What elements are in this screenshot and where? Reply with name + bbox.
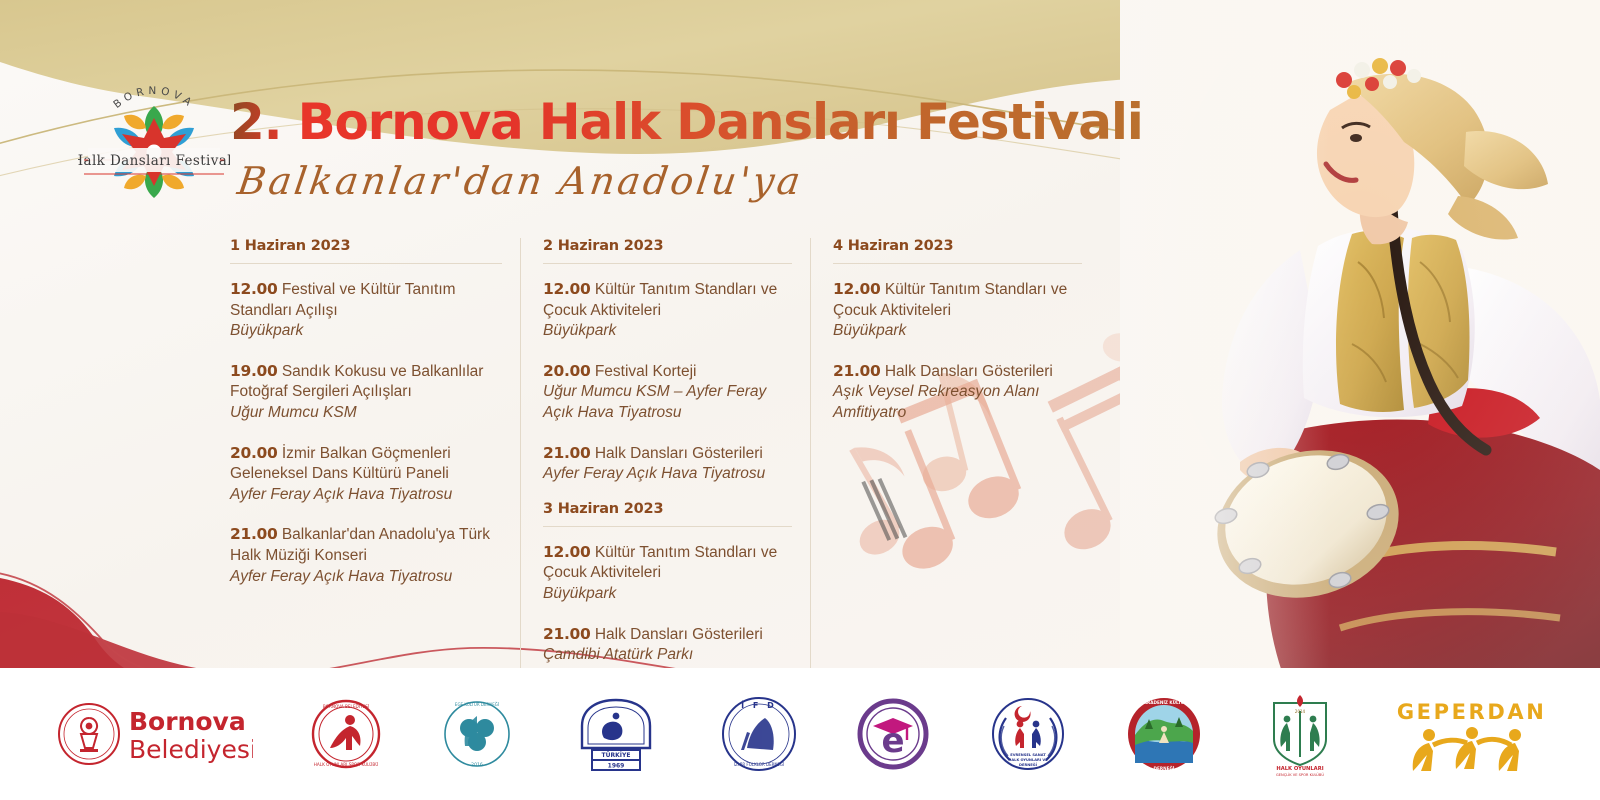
sponsor-logo-bornova-halk-oyunlari: BORNOVA BELEDİYESİ HALK OYUNLARI SPOR KU… xyxy=(308,688,384,780)
seal-mark: İ F D xyxy=(741,700,777,710)
event-venue: Büyükpark xyxy=(543,584,792,605)
event-time: 19.00 xyxy=(230,362,278,380)
seal-label-1: EVRENSEL SANAT xyxy=(1010,753,1046,757)
event-item: 21.00 Balkanlar'dan Anadolu'ya Türk Halk… xyxy=(230,524,502,587)
day-group: 2 Haziran 2023 12.00 Kültür Tanıtım Stan… xyxy=(543,238,792,485)
schedule-column-2: 2 Haziran 2023 12.00 Kültür Tanıtım Stan… xyxy=(520,238,810,682)
event-schedule: 1 Haziran 2023 12.00 Festival ve Kültür … xyxy=(230,238,1110,682)
event-venue: Aşık Veysel Rekreasyon Alanı Amfitiyatro xyxy=(833,382,1082,423)
sponsor-logo-ege-kultur-dernegi: EGE KÜLTÜR DERNEĞİ 2016 xyxy=(439,688,515,780)
seal-ring-bottom: İZMİR FOLKLOR DERNEĞİ xyxy=(733,762,783,767)
event-item: 12.00 Kültür Tanıtım Standları ve Çocuk … xyxy=(543,279,792,342)
sponsor-logo-strip: Bornova Belediyesi BORNOVA BELEDİYESİ HA… xyxy=(0,668,1600,800)
event-item: 12.00 Kültür Tanıtım Standları ve Çocuk … xyxy=(833,279,1082,342)
schedule-column-3: 4 Haziran 2023 12.00 Kültür Tanıtım Stan… xyxy=(810,238,1100,682)
day-header: 3 Haziran 2023 xyxy=(543,501,792,527)
ifd-seal-icon: İ F D İZMİR FOLKLOR DERNEĞİ xyxy=(717,692,801,776)
event-venue: Büyükpark xyxy=(833,321,1082,342)
festival-logo-mark: BORNOVA xyxy=(78,86,230,206)
day-group: 3 Haziran 2023 12.00 Kültür Tanıtım Stan… xyxy=(543,501,792,666)
sponsor-logo-izmir-turizm-folklor: TÜRKİYE 1969 xyxy=(570,688,662,780)
day-group: 1 Haziran 2023 12.00 Festival ve Kültür … xyxy=(230,238,502,587)
event-venue: Çamdibi Atatürk Parkı xyxy=(543,645,792,666)
event-venue: Ayfer Feray Açık Hava Tiyatrosu xyxy=(230,485,502,506)
ganos-crest-icon: 2014 HALK OYUNLARI GENÇLİK VE SPOR KULÜB… xyxy=(1258,691,1342,777)
crescent-icon xyxy=(1015,706,1031,722)
festival-logo: BORNOVA xyxy=(78,86,230,206)
egeperdans-logo: EGEPERDANS xyxy=(1397,693,1547,775)
event-venue: Büyükpark xyxy=(543,321,792,342)
title-block: 2. Bornova Halk Dansları Festivali Balka… xyxy=(230,96,1143,203)
page-subtitle: Balkanlar'dan Anadolu'ya xyxy=(235,159,1146,203)
seal-mark: e xyxy=(882,721,905,761)
crest-label-2: GENÇLİK VE SPOR KULÜBÜ xyxy=(1276,772,1324,777)
sponsor-logo-ifd: İ F D İZMİR FOLKLOR DERNEĞİ xyxy=(717,688,801,780)
seal-ring-top: BORNOVA BELEDİYESİ xyxy=(323,704,369,709)
event-item: 20.00 Festival Korteji Uğur Mumcu KSM – … xyxy=(543,361,792,424)
evrensel-sanat-seal-icon: EVRENSEL SANAT HALK OYUNLARI VE DERNEĞİ xyxy=(986,692,1070,776)
day-header: 2 Haziran 2023 xyxy=(543,238,792,264)
sponsor-logo-bornova-belediyesi: Bornova Belediyesi xyxy=(53,688,253,780)
seal-label-2: HALK OYUNLARI VE xyxy=(1009,758,1049,762)
event-venue: Ayfer Feray Açık Hava Tiyatrosu xyxy=(230,567,502,588)
event-venue: Uğur Mumcu KSM xyxy=(230,403,502,424)
sponsor-name-line1: Bornova xyxy=(129,707,246,736)
event-time: 12.00 xyxy=(543,280,591,298)
sponsor-logo-egeperdans: EGEPERDANS xyxy=(1397,688,1547,780)
event-venue: Ayfer Feray Açık Hava Tiyatrosu xyxy=(543,464,792,485)
day-header: 4 Haziran 2023 xyxy=(833,238,1082,264)
crest-label-1: HALK OYUNLARI xyxy=(1276,766,1323,772)
seal-ring-bottom: HALK OYUNLARI SPOR KULÜBÜ xyxy=(314,762,379,767)
event-item: 21.00 Halk Dansları Gösterileri Ayfer Fe… xyxy=(543,443,792,485)
logo-band-text: Halk Dansları Festivali xyxy=(78,153,230,169)
seal-label-country: TÜRKİYE xyxy=(601,752,630,759)
sponsor-logo-ganos-halk-oyunlari: 2014 HALK OYUNLARI GENÇLİK VE SPOR KULÜB… xyxy=(1258,688,1342,780)
seal-label-year: 1969 xyxy=(607,763,624,770)
sponsor-name: EGEPERDANS xyxy=(1397,700,1547,724)
sponsor-logo-evrensel-sanat: EVRENSEL SANAT HALK OYUNLARI VE DERNEĞİ xyxy=(986,688,1070,780)
event-venue: Uğur Mumcu KSM – Ayfer Feray Açık Hava T… xyxy=(543,382,792,423)
event-item: 20.00 İzmir Balkan Göçmenleri Geleneksel… xyxy=(230,443,502,506)
event-name: Halk Dansları Gösterileri xyxy=(595,445,763,462)
event-name: Halk Dansları Gösterileri xyxy=(595,626,763,643)
event-name: Halk Dansları Gösterileri xyxy=(885,363,1053,380)
event-time: 20.00 xyxy=(230,444,278,462)
seal-year: 2016 xyxy=(471,762,483,768)
event-item: 12.00 Festival ve Kültür Tanıtım Standla… xyxy=(230,279,502,342)
seal-ring-bottom: DERNEĞİ xyxy=(1154,766,1175,771)
dancers-icon xyxy=(1412,727,1520,771)
event-time: 20.00 xyxy=(543,362,591,380)
sponsor-logo-universite: e xyxy=(855,688,931,780)
bornova-seal-icon xyxy=(59,704,119,764)
event-time: 21.00 xyxy=(833,362,881,380)
izmir-turizm-folklor-icon: TÜRKİYE 1969 xyxy=(570,694,662,774)
event-item: 21.00 Halk Dansları Gösterileri Çamdibi … xyxy=(543,624,792,666)
sponsor-name-line2: Belediyesi xyxy=(129,735,253,764)
festival-poster: BORNOVA xyxy=(0,0,1600,800)
event-time: 12.00 xyxy=(543,543,591,561)
event-item: 12.00 Kültür Tanıtım Standları ve Çocuk … xyxy=(543,542,792,605)
event-venue: Büyükpark xyxy=(230,321,502,342)
seal-ring-top: KARADENİZ KÜLTÜR xyxy=(1141,700,1189,705)
event-item: 21.00 Halk Dansları Gösterileri Aşık Vey… xyxy=(833,361,1082,424)
sponsor-logo-karadeniz-kultur: KARADENİZ KÜLTÜR DERNEĞİ xyxy=(1125,688,1203,780)
halk-oyunlari-seal-icon: BORNOVA BELEDİYESİ HALK OYUNLARI SPOR KU… xyxy=(308,696,384,772)
event-item: 19.00 Sandık Kokusu ve Balkanlılar Fotoğ… xyxy=(230,361,502,424)
bornova-belediyesi-logo: Bornova Belediyesi xyxy=(53,696,253,772)
page-title: 2. Bornova Halk Dansları Festivali xyxy=(230,96,1143,149)
karadeniz-kultur-icon: KARADENİZ KÜLTÜR DERNEĞİ xyxy=(1125,695,1203,773)
seal-label-3: DERNEĞİ xyxy=(1019,762,1037,767)
schedule-column-1: 1 Haziran 2023 12.00 Festival ve Kültür … xyxy=(230,238,520,682)
seal-ring-top: EGE KÜLTÜR DERNEĞİ xyxy=(455,702,499,707)
crest-year: 2014 xyxy=(1295,709,1306,714)
event-time: 21.00 xyxy=(543,444,591,462)
event-time: 21.00 xyxy=(230,525,278,543)
event-name: Festival Korteji xyxy=(595,363,697,380)
event-time: 12.00 xyxy=(230,280,278,298)
event-time: 12.00 xyxy=(833,280,881,298)
event-time: 21.00 xyxy=(543,625,591,643)
ege-kultur-dernegi-icon: EGE KÜLTÜR DERNEĞİ 2016 xyxy=(439,696,515,772)
day-header: 1 Haziran 2023 xyxy=(230,238,502,264)
universite-graduation-icon: e xyxy=(855,696,931,772)
day-group: 4 Haziran 2023 12.00 Kültür Tanıtım Stan… xyxy=(833,238,1082,424)
